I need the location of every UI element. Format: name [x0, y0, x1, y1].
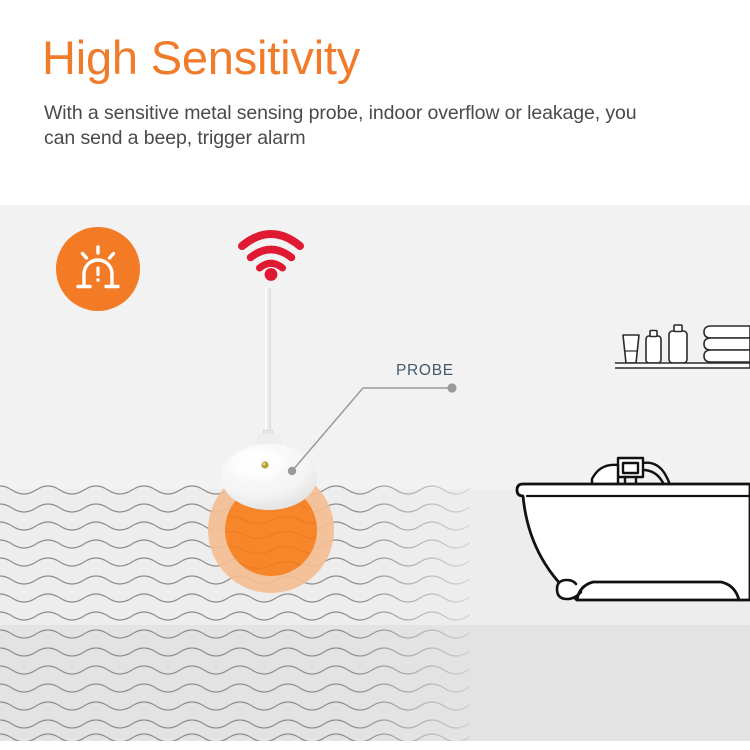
probe-label: PROBE [396, 362, 454, 380]
wifi-signal-icon [236, 228, 306, 282]
alarm-siren-icon [78, 247, 118, 287]
product-infographic: PROBE High Sensitivity With a sensitive … [0, 0, 750, 750]
bottom-strip [0, 741, 750, 750]
alarm-badge [56, 227, 140, 311]
callout-end-dot [447, 383, 456, 392]
callout-anchor-dot [288, 467, 296, 475]
sensor-cable [262, 288, 274, 448]
page-title: High Sensitivity [42, 33, 360, 82]
page-subtitle: With a sensitive metal sensing probe, in… [44, 101, 644, 151]
bathtub-illustration [505, 300, 750, 630]
header: High Sensitivity With a sensitive metal … [0, 0, 750, 205]
